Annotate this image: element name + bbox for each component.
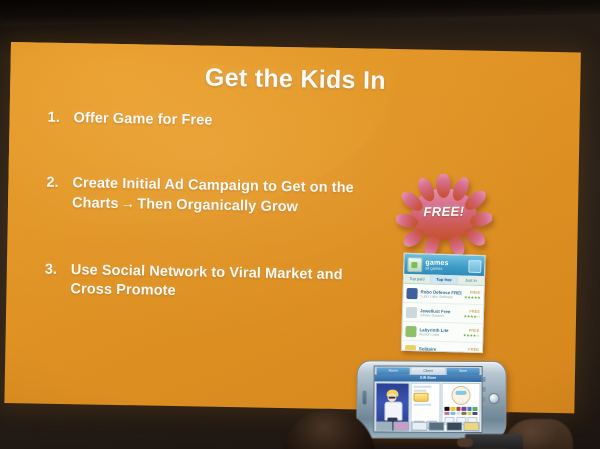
tab-just-in[interactable]: Just in <box>458 275 484 285</box>
tab-closet[interactable]: Closet <box>412 368 445 375</box>
app-meta: FREE ★★★★☆ <box>463 328 480 338</box>
info-line <box>413 386 432 388</box>
color-swatch[interactable] <box>456 407 461 411</box>
app-rating: ★★★★☆ <box>463 333 480 338</box>
list-item[interactable]: Jewellust Free Infinite Dreams FREE ★★★★… <box>403 303 484 324</box>
color-swatch[interactable] <box>467 407 472 411</box>
bullet-list: 1. Offer Game for Free 2. Create Initial… <box>44 109 377 305</box>
avatar-glasses-icon <box>389 397 396 399</box>
coin-price-chip <box>413 393 428 402</box>
app-meta: FREE ★★★★☆ <box>462 347 479 354</box>
tab-top-paid[interactable]: Top paid <box>404 274 431 284</box>
hardware-button-home[interactable] <box>483 397 486 402</box>
right-arrow-icon: → <box>118 196 137 212</box>
hardware-button-back[interactable] <box>483 377 486 382</box>
starburst-icon <box>395 173 492 255</box>
camera-body <box>465 434 523 449</box>
color-swatch[interactable] <box>445 407 450 411</box>
app-store-screenshot: games all games Top paid Top free Just i… <box>401 253 486 353</box>
app-icon <box>405 325 416 336</box>
hardware-button-search[interactable] <box>482 407 485 412</box>
app-info: Jewellust Free Infinite Dreams <box>420 308 461 318</box>
bullet-text: Use Social Network to Viral Market and C… <box>70 261 375 305</box>
bullet-text-part-2: Then Organically Grow <box>137 196 298 215</box>
tray-item[interactable] <box>411 422 427 431</box>
info-line <box>413 403 432 405</box>
app-rating: ★★★★☆ <box>463 314 480 319</box>
app-tab-bar: Room Closet Store <box>375 367 482 375</box>
tray-item[interactable] <box>394 422 410 431</box>
list-item[interactable]: Labyrinth Lite Illusion Labs FREE ★★★★☆ <box>402 322 483 343</box>
store-header: games all games <box>404 254 485 276</box>
color-swatch[interactable] <box>462 407 467 411</box>
projected-slide-photo: Get the Kids In 1. Offer Game for Free 2… <box>0 0 600 449</box>
app-icon <box>406 306 417 317</box>
trackball[interactable] <box>488 393 499 404</box>
app-developer: Infinite Dreams <box>420 313 461 318</box>
tray-item[interactable] <box>376 422 392 431</box>
tab-store[interactable]: Store <box>447 368 480 375</box>
audience-hand <box>457 438 473 447</box>
free-starburst-badge: FREE! <box>395 173 492 255</box>
earpiece-speaker <box>362 390 366 404</box>
bullet-text: Create Initial Ad Campaign to Get on the… <box>72 174 377 218</box>
tab-room[interactable]: Room <box>377 368 410 375</box>
preview-head-icon <box>452 386 471 405</box>
app-info: Labyrinth Lite Illusion Labs <box>419 327 460 337</box>
list-item: 2. Create Initial Ad Campaign to Get on … <box>46 174 377 219</box>
list-item[interactable]: Robo Defense FREE Lupis Labs Software FR… <box>403 284 484 305</box>
color-swatch[interactable] <box>450 407 455 411</box>
app-developer: Illusion Labs <box>419 332 460 337</box>
projection-screen: Get the Kids In 1. Offer Game for Free 2… <box>4 42 581 413</box>
bullet-number: 1. <box>47 109 73 129</box>
app-icon <box>406 287 417 298</box>
list-item: 3. Use Social Network to Viral Market an… <box>44 261 375 306</box>
tray-item[interactable] <box>429 422 445 431</box>
tab-top-free[interactable]: Top free <box>431 275 458 285</box>
info-line <box>413 389 427 391</box>
bullet-number: 2. <box>46 174 72 194</box>
bullet-number: 3. <box>45 261 71 281</box>
store-header-text: games all games <box>425 259 448 271</box>
games-bag-icon <box>407 256 422 271</box>
app-rating: ★★★★★ <box>464 295 481 300</box>
color-swatch[interactable] <box>473 407 478 411</box>
audience-camera-silhouette <box>455 413 575 449</box>
app-meta: FREE ★★★★★ <box>464 290 481 300</box>
app-meta: FREE ★★★★☆ <box>463 309 480 319</box>
search-icon[interactable] <box>468 259 481 272</box>
hardware-button-menu[interactable] <box>483 387 486 392</box>
color-swatch[interactable] <box>445 411 450 415</box>
store-app-list: Robo Defense FREE Lupis Labs Software FR… <box>402 284 484 353</box>
store-subtitle: all games <box>425 266 448 271</box>
app-info: Robo Defense FREE Lupis Labs Software <box>420 289 461 299</box>
